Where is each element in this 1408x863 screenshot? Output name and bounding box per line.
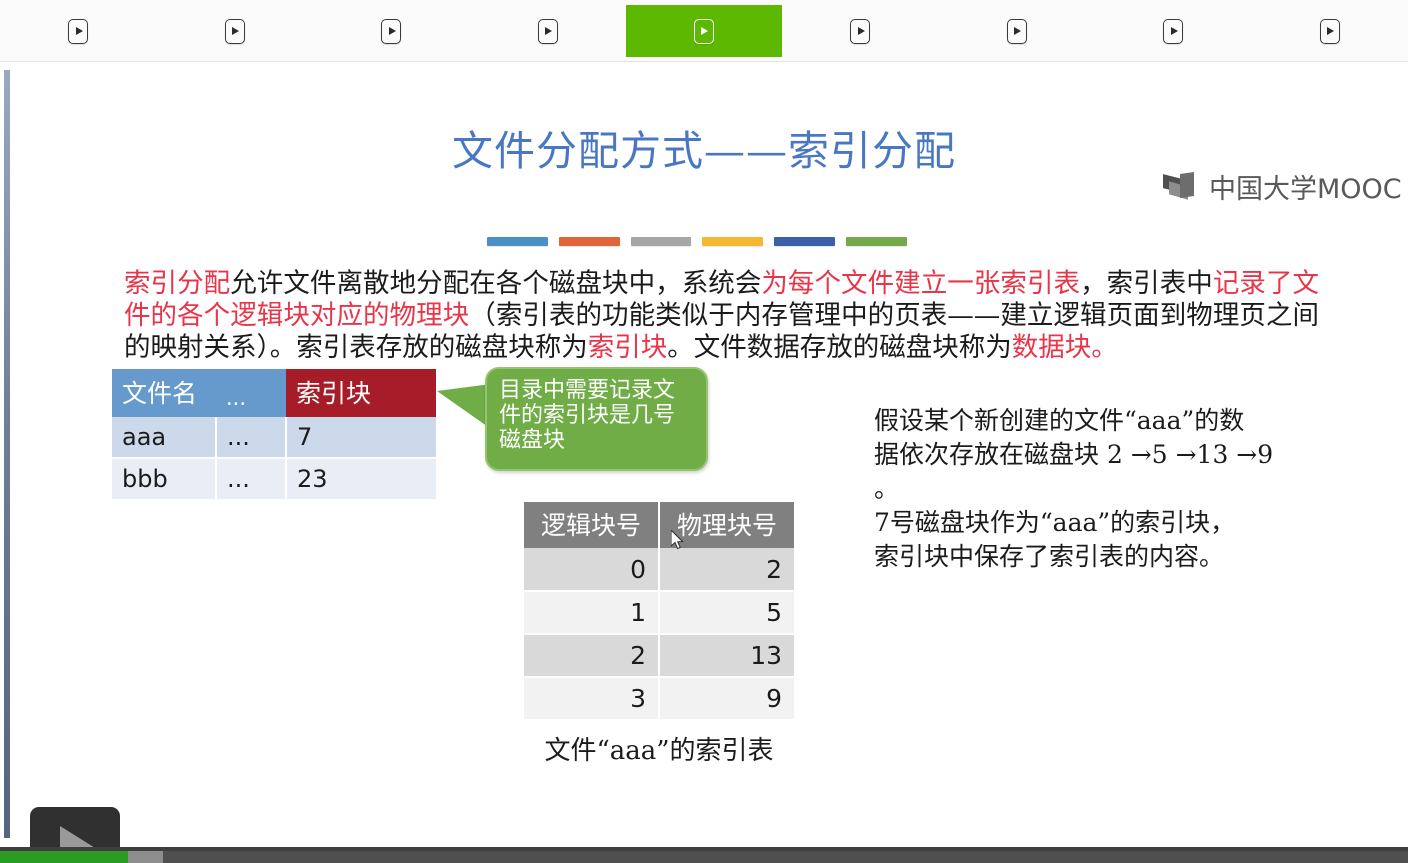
mouse-cursor <box>671 530 685 551</box>
play-icon <box>1007 19 1027 44</box>
note-line: 假设某个新创建的文件“aaa”的数 <box>874 404 1304 438</box>
index-cell-logical: 3 <box>524 677 659 720</box>
index-table-header-row: 逻辑块号 物理块号 <box>524 502 794 548</box>
note-line: 7号磁盘块作为“aaa”的索引块， <box>874 506 1304 540</box>
mooc-logo-text: 中国大学MOOC <box>1209 167 1402 206</box>
index-cell-physical: 5 <box>659 591 794 634</box>
paragraph-highlight: 数据块。 <box>1012 332 1118 363</box>
title-bar-3 <box>631 237 692 246</box>
tab-list <box>0 5 1408 57</box>
play-icon <box>225 19 245 44</box>
table-row: 1 5 <box>524 591 794 634</box>
progress-played <box>0 851 128 863</box>
tab-chapter-7[interactable] <box>939 5 1095 57</box>
directory-cell-ellipsis: ... <box>216 458 286 500</box>
index-cell-physical: 2 <box>659 548 794 591</box>
play-icon <box>694 19 714 44</box>
slide-left-accent-bar <box>4 70 10 838</box>
video-play-overlay-button[interactable] <box>30 807 120 847</box>
directory-cell-index-block: 23 <box>286 458 436 500</box>
play-icon <box>381 19 401 44</box>
paragraph-highlight: 为每个文件建立一张索引表 <box>761 268 1080 299</box>
tab-chapter-5-active[interactable] <box>626 5 782 57</box>
tab-chapter-3[interactable] <box>313 5 469 57</box>
paragraph-text: 允许文件离散地分配在各个磁盘块中，系统会 <box>230 268 761 299</box>
play-icon <box>850 19 870 44</box>
tab-chapter-1[interactable] <box>0 5 156 57</box>
index-cell-physical: 13 <box>659 634 794 677</box>
directory-header-filename: 文件名 <box>112 369 216 417</box>
directory-cell-filename: bbb <box>112 458 216 500</box>
tab-chapter-4[interactable] <box>469 5 625 57</box>
note-line: 据依次存放在磁盘块 2 →5 →13 →9 。 <box>874 438 1304 506</box>
video-chapter-tabbar <box>0 0 1408 62</box>
index-header-logical-block: 逻辑块号 <box>524 502 659 548</box>
index-cell-logical: 0 <box>524 548 659 591</box>
explanatory-note: 假设某个新创建的文件“aaa”的数据依次存放在磁盘块 2 →5 →13 →9 。… <box>874 404 1304 574</box>
play-icon <box>60 826 100 847</box>
directory-cell-index-block: 7 <box>286 417 436 458</box>
video-progress-bar[interactable] <box>0 851 1408 863</box>
directory-cell-filename: aaa <box>112 417 216 458</box>
table-row: 3 9 <box>524 677 794 720</box>
directory-table: 文件名 ... 索引块 aaa ... 7 bbb ... 23 <box>112 369 436 501</box>
directory-header-ellipsis: ... <box>216 369 286 417</box>
tab-chapter-6[interactable] <box>782 5 938 57</box>
index-cell-logical: 2 <box>524 634 659 677</box>
table-row: aaa ... 7 <box>112 417 436 458</box>
directory-header-index-block: 索引块 <box>286 369 436 417</box>
play-icon <box>68 19 88 44</box>
play-icon <box>1163 19 1183 44</box>
paragraph-highlight: 索引分配 <box>124 268 230 299</box>
index-cell-logical: 1 <box>524 591 659 634</box>
play-icon <box>538 19 558 44</box>
title-bar-6 <box>846 237 907 246</box>
table-row: 2 13 <box>524 634 794 677</box>
callout-bubble: 目录中需要记录文件的索引块是几号磁盘块 <box>485 367 708 471</box>
paragraph-text: 。文件数据存放的磁盘块称为 <box>667 332 1012 363</box>
table-row: bbb ... 23 <box>112 458 436 500</box>
title-bar-4 <box>702 237 763 246</box>
index-table-group: 逻辑块号 物理块号 0 2 1 5 2 13 3 <box>524 502 794 767</box>
index-table-caption: 文件“aaa”的索引表 <box>524 730 794 767</box>
body-paragraph: 索引分配允许文件离散地分配在各个磁盘块中，系统会为每个文件建立一张索引表，索引表… <box>124 268 1319 364</box>
tab-chapter-8[interactable] <box>1095 5 1251 57</box>
index-table: 逻辑块号 物理块号 0 2 1 5 2 13 3 <box>524 502 794 721</box>
title-bar-1 <box>487 237 548 246</box>
index-cell-physical: 9 <box>659 677 794 720</box>
play-icon <box>1320 19 1340 44</box>
note-line: 索引块中保存了索引表的内容。 <box>874 540 1304 574</box>
table-row: 0 2 <box>524 548 794 591</box>
title-bar-2 <box>559 237 620 246</box>
title-bar-5 <box>774 237 835 246</box>
tab-chapter-9[interactable] <box>1252 5 1408 57</box>
mooc-logo: 中国大学MOOC <box>1163 167 1402 206</box>
mooc-book-icon <box>1163 173 1203 201</box>
paragraph-highlight: 索引块 <box>588 332 668 363</box>
tab-chapter-2[interactable] <box>156 5 312 57</box>
slide-canvas: 文件分配方式——索引分配 中国大学MOOC 索引分配允许文件离散地分配在各个磁盘… <box>0 62 1408 847</box>
directory-table-header-row: 文件名 ... 索引块 <box>112 369 436 417</box>
callout-pointer-tail <box>437 384 491 429</box>
paragraph-text: ，索引表中 <box>1080 268 1213 299</box>
directory-cell-ellipsis: ... <box>216 417 286 458</box>
title-underline-bars <box>487 237 907 246</box>
